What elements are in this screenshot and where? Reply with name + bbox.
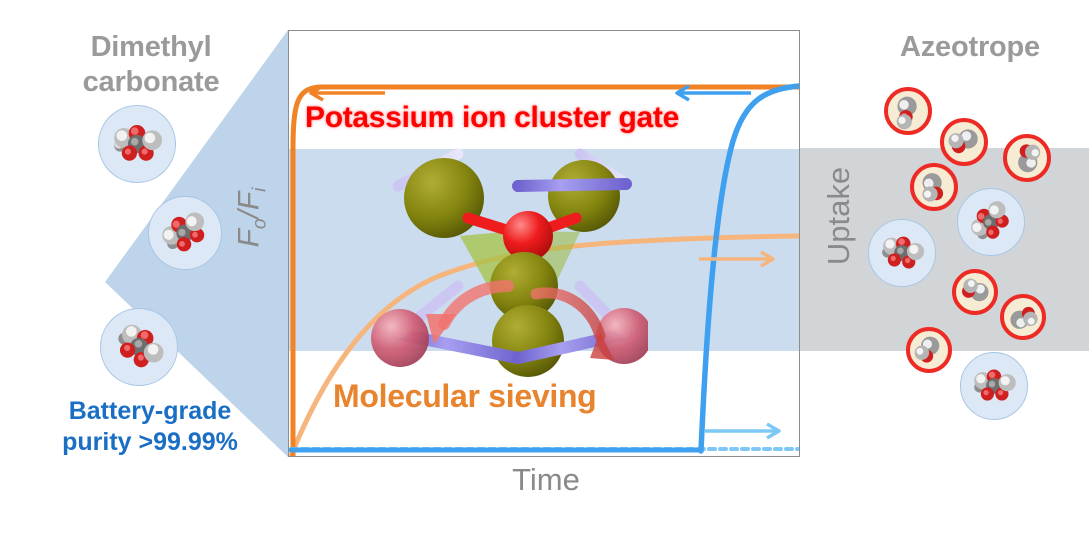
molecule-water-7	[906, 327, 952, 373]
dimethyl-carbonate-title: Dimethyl carbonate	[36, 30, 266, 101]
molecule-dmc-left-2	[148, 196, 222, 270]
y-axis-label: Fo/Fi	[232, 188, 271, 248]
molecule-water-6	[1000, 294, 1046, 340]
molecule-water-3	[1003, 134, 1051, 182]
molecule-dmc-right-2	[868, 219, 936, 287]
molecule-water-1	[884, 87, 932, 135]
molecule-dmc-right-3	[960, 352, 1028, 420]
molecule-water-5	[952, 269, 998, 315]
figure-canvas: Dimethyl carbonate	[0, 0, 1089, 543]
potassium-gate-caption: Potassium ion cluster gate	[305, 101, 679, 135]
molecule-dmc-left-1	[98, 105, 176, 183]
arrow-sieving-right	[699, 252, 773, 266]
molecule-dmc-left-3	[100, 308, 178, 386]
arrow-baseline-right	[705, 424, 779, 438]
uptake-label: Uptake	[821, 167, 857, 265]
azeotrope-title: Azeotrope	[855, 30, 1085, 65]
potassium-ion-cluster-cube	[348, 136, 648, 396]
curve-retained-breakthrough	[701, 86, 799, 451]
molecule-dmc-right-1	[957, 188, 1025, 256]
molecule-water-2	[940, 118, 988, 166]
battery-grade-purity-note: Battery-grade purity >99.99%	[28, 396, 272, 459]
molecule-water-4	[910, 163, 958, 211]
x-axis-label: Time	[462, 462, 630, 498]
